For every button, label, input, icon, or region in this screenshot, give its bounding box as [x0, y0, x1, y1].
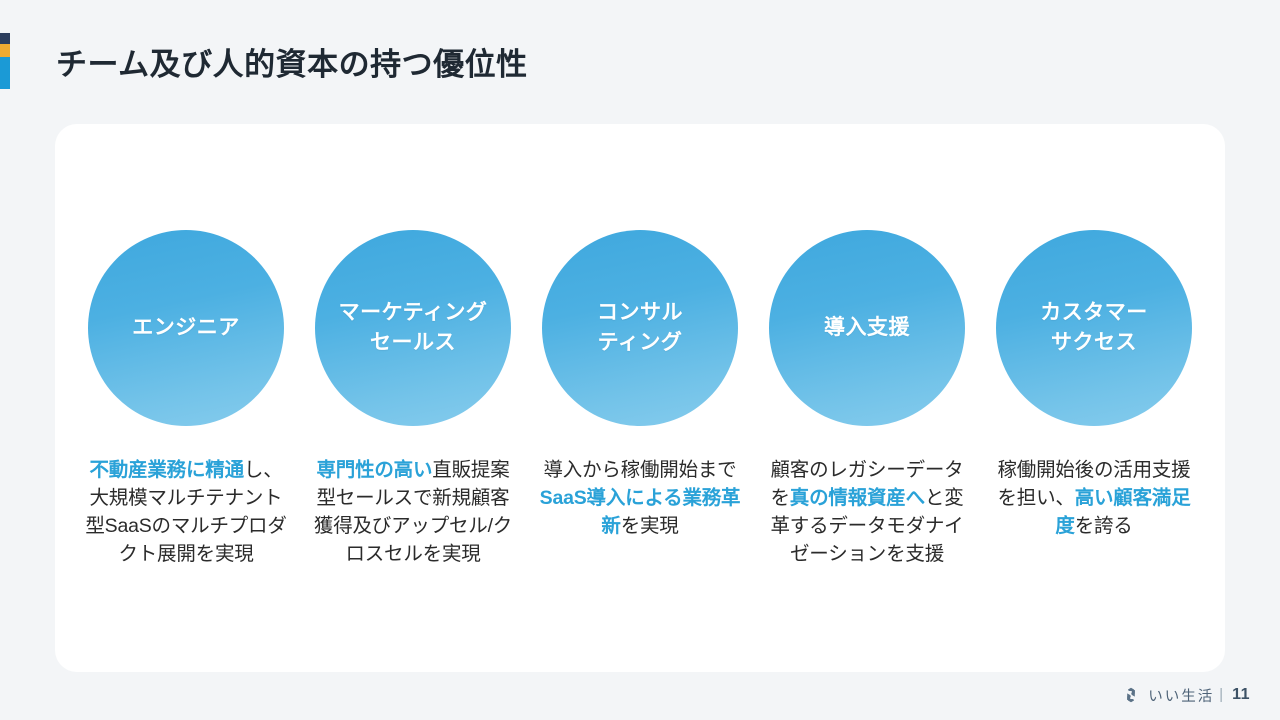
role-description-consulting: 導入から稼働開始までSaaS導入による業務革新を実現 [536, 456, 744, 540]
role-circle-label-line: エンジニア [132, 316, 240, 339]
slide-header: チーム及び人的資本の持つ優位性 [0, 32, 528, 90]
role-description-plain: を実現 [621, 515, 679, 537]
role-column-consulting: コンサル ティング 導入から稼働開始までSaaS導入による業務革新を実現 [531, 124, 749, 672]
role-circle-label: エンジニア [124, 313, 248, 343]
page-number: 11 [1232, 686, 1250, 704]
role-circle-implementation-support: 導入支援 [769, 230, 965, 426]
accent-segment-amber [0, 44, 10, 57]
role-circle-label-line: マーケティング [339, 301, 488, 324]
role-description-emphasis: 真の情報資産へ [790, 487, 925, 509]
role-circle-label-line: カスタマー [1040, 301, 1148, 324]
footer-separator: | [1219, 687, 1223, 703]
role-circle-label-line: サクセス [1051, 331, 1137, 354]
accent-segment-blue [0, 57, 10, 89]
page-title: チーム及び人的資本の持つ優位性 [56, 39, 528, 84]
slide-root: チーム及び人的資本の持つ優位性 エンジニア 不動産業務に精通し、大規模マルチテナ… [0, 0, 1280, 720]
role-circle-engineer: エンジニア [88, 230, 284, 426]
role-column-marketing-sales: マーケティング セールス 専門性の高い直販提案型セールスで新規顧客獲得及びアップ… [304, 124, 522, 672]
hexagon-ring-logo-icon [1123, 687, 1139, 703]
role-description-emphasis: 専門性の高い [316, 459, 432, 481]
role-circle-label-line: コンサル [597, 301, 683, 324]
role-circle-label-line: 導入支援 [824, 316, 910, 339]
slide-footer: いい生活 | 11 [1123, 684, 1250, 706]
role-circle-label-line: ティング [598, 331, 683, 354]
role-column-customer-success: カスタマー サクセス 稼働開始後の活用支援を担い、高い顧客満足度を誇る [985, 124, 1203, 672]
role-description-implementation-support: 顧客のレガシーデータを真の情報資産へと変革するデータモダナイゼーションを支援 [763, 456, 971, 568]
footer-brand: いい生活 [1148, 685, 1214, 706]
role-circle-label: マーケティング セールス [331, 298, 496, 359]
role-description-plain: 導入から稼働開始まで [543, 459, 736, 481]
role-description-emphasis: 不動産業務に精通 [89, 459, 243, 481]
accent-segment-navy [0, 33, 10, 44]
role-circle-customer-success: カスタマー サクセス [996, 230, 1192, 426]
role-description-marketing-sales: 専門性の高い直販提案型セールスで新規顧客獲得及びアップセル/クロスセルを実現 [309, 456, 517, 568]
role-circle-label-line: セールス [370, 331, 456, 354]
role-circle-label: 導入支援 [816, 313, 918, 343]
role-circle-marketing-sales: マーケティング セールス [315, 230, 511, 426]
role-column-implementation-support: 導入支援 顧客のレガシーデータを真の情報資産へと変革するデータモダナイゼーション… [758, 124, 976, 672]
role-description-plain: を誇る [1075, 515, 1133, 537]
role-columns: エンジニア 不動産業務に精通し、大規模マルチテナント型SaaSのマルチプロダクト… [55, 124, 1225, 672]
role-circle-consulting: コンサル ティング [542, 230, 738, 426]
role-circle-label: カスタマー サクセス [1032, 298, 1156, 359]
role-circle-label: コンサル ティング [589, 298, 691, 359]
role-description-customer-success: 稼働開始後の活用支援を担い、高い顧客満足度を誇る [990, 456, 1198, 540]
role-description-engineer: 不動産業務に精通し、大規模マルチテナント型SaaSのマルチプロダクト展開を実現 [82, 456, 290, 568]
role-column-engineer: エンジニア 不動産業務に精通し、大規模マルチテナント型SaaSのマルチプロダクト… [77, 124, 295, 672]
accent-bar-icon [0, 33, 10, 89]
